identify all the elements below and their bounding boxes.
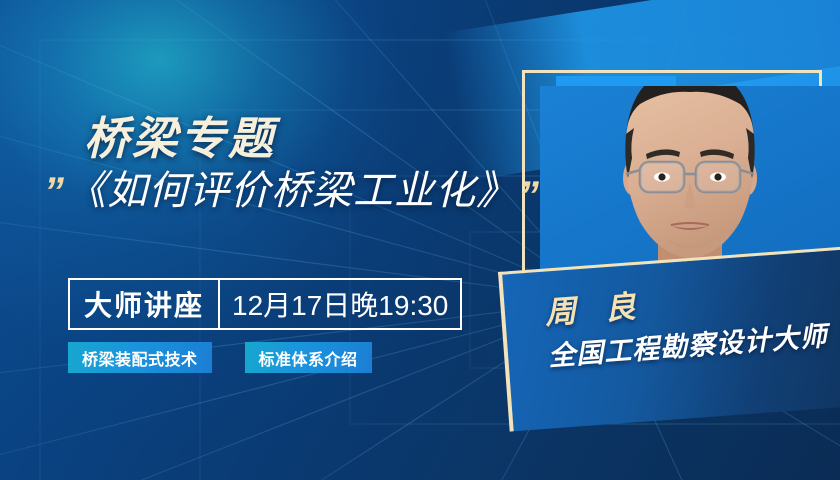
subtitle-row: ” 《如何评价桥梁工业化》 ” bbox=[44, 170, 537, 212]
topic-chip: 桥梁装配式技术 bbox=[68, 342, 212, 373]
open-quote-icon: ” bbox=[44, 172, 62, 212]
topic-chip-list: 桥梁装配式技术 标准体系介绍 bbox=[68, 342, 372, 373]
lecture-type-label: 大师讲座 bbox=[70, 280, 218, 328]
page-title: 桥梁专题 bbox=[84, 102, 276, 167]
chip-spacer bbox=[212, 342, 245, 373]
close-quote-icon: ” bbox=[519, 176, 537, 216]
speaker-nameplate: 周 良 全国工程勘察设计大师 bbox=[498, 246, 840, 431]
topic-chip: 标准体系介绍 bbox=[245, 342, 372, 373]
subtitle: 《如何评价桥梁工业化》 bbox=[66, 170, 517, 212]
lecture-info-bar: 大师讲座 12月17日晚19:30 bbox=[68, 278, 462, 330]
promo-poster: 周 良 全国工程勘察设计大师 桥梁专题 ” 《如何评价桥梁工业化》 ” 大师讲座… bbox=[0, 0, 840, 480]
lecture-datetime: 12月17日晚19:30 bbox=[220, 280, 460, 328]
